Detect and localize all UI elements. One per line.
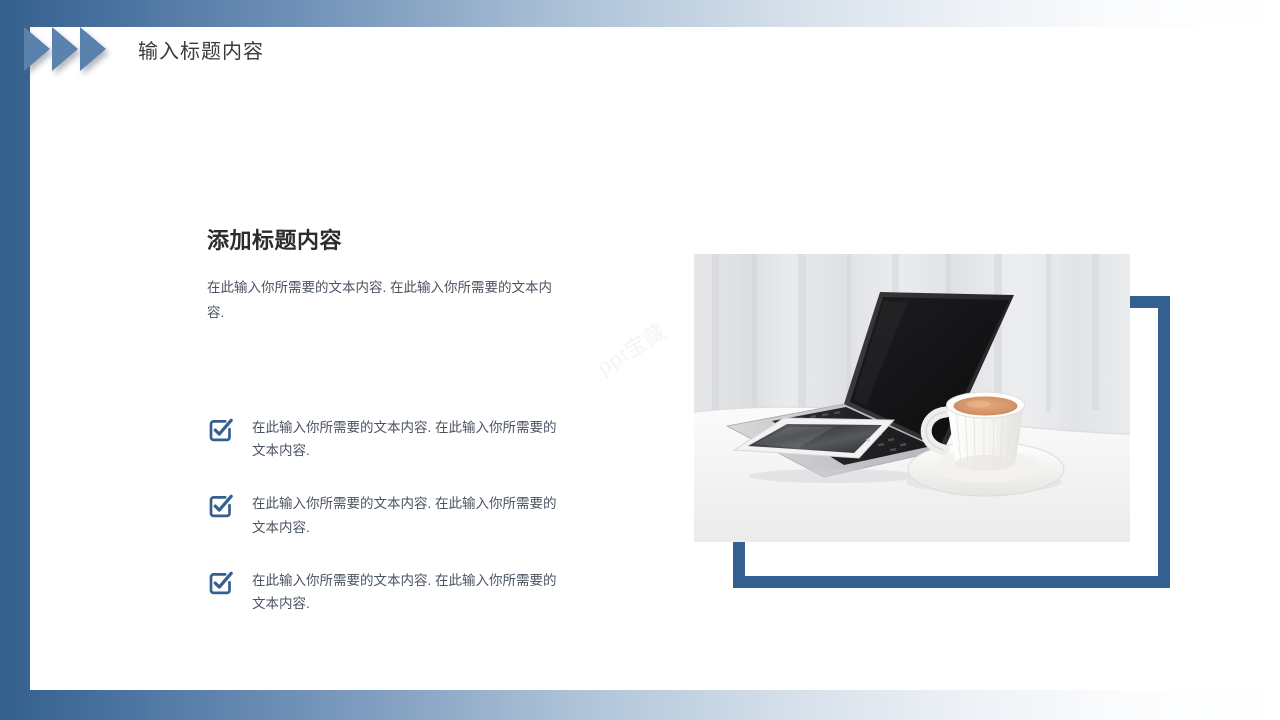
text-column: 添加标题内容 在此输入你所需要的文本内容. 在此输入你所需要的文本内容. <box>207 228 579 326</box>
chevron-right-icon-3 <box>80 27 106 71</box>
workspace-photo <box>694 254 1130 542</box>
media-block <box>694 254 1170 588</box>
slide-header: 输入标题内容 <box>16 14 264 84</box>
list-item-label: 在此输入你所需要的文本内容. 在此输入你所需要的文本内容. <box>252 416 568 462</box>
checkbox-checked-icon[interactable] <box>208 493 234 519</box>
presentation-slide: 输入标题内容 ppt宝藏 添加标题内容 在此输入你所需要的文本内容. 在此输入你… <box>0 0 1280 720</box>
slide-header-title: 输入标题内容 <box>138 35 264 64</box>
section-body-paragraph: 在此输入你所需要的文本内容. 在此输入你所需要的文本内容. <box>207 276 559 326</box>
list-item-label: 在此输入你所需要的文本内容. 在此输入你所需要的文本内容. <box>252 569 568 615</box>
chevron-right-icon-1 <box>24 27 50 71</box>
checklist: 在此输入你所需要的文本内容. 在此输入你所需要的文本内容. 在此输入你所需要的文… <box>208 416 588 615</box>
list-item[interactable]: 在此输入你所需要的文本内容. 在此输入你所需要的文本内容. <box>208 492 588 538</box>
section-title: 添加标题内容 <box>207 228 579 254</box>
checkbox-checked-icon[interactable] <box>208 570 234 596</box>
triple-chevron-right-icon <box>24 19 120 79</box>
list-item-label: 在此输入你所需要的文本内容. 在此输入你所需要的文本内容. <box>252 492 568 538</box>
chevron-right-icon-2 <box>52 27 78 71</box>
checkbox-checked-icon[interactable] <box>208 417 234 443</box>
list-item[interactable]: 在此输入你所需要的文本内容. 在此输入你所需要的文本内容. <box>208 569 588 615</box>
list-item[interactable]: 在此输入你所需要的文本内容. 在此输入你所需要的文本内容. <box>208 416 588 462</box>
